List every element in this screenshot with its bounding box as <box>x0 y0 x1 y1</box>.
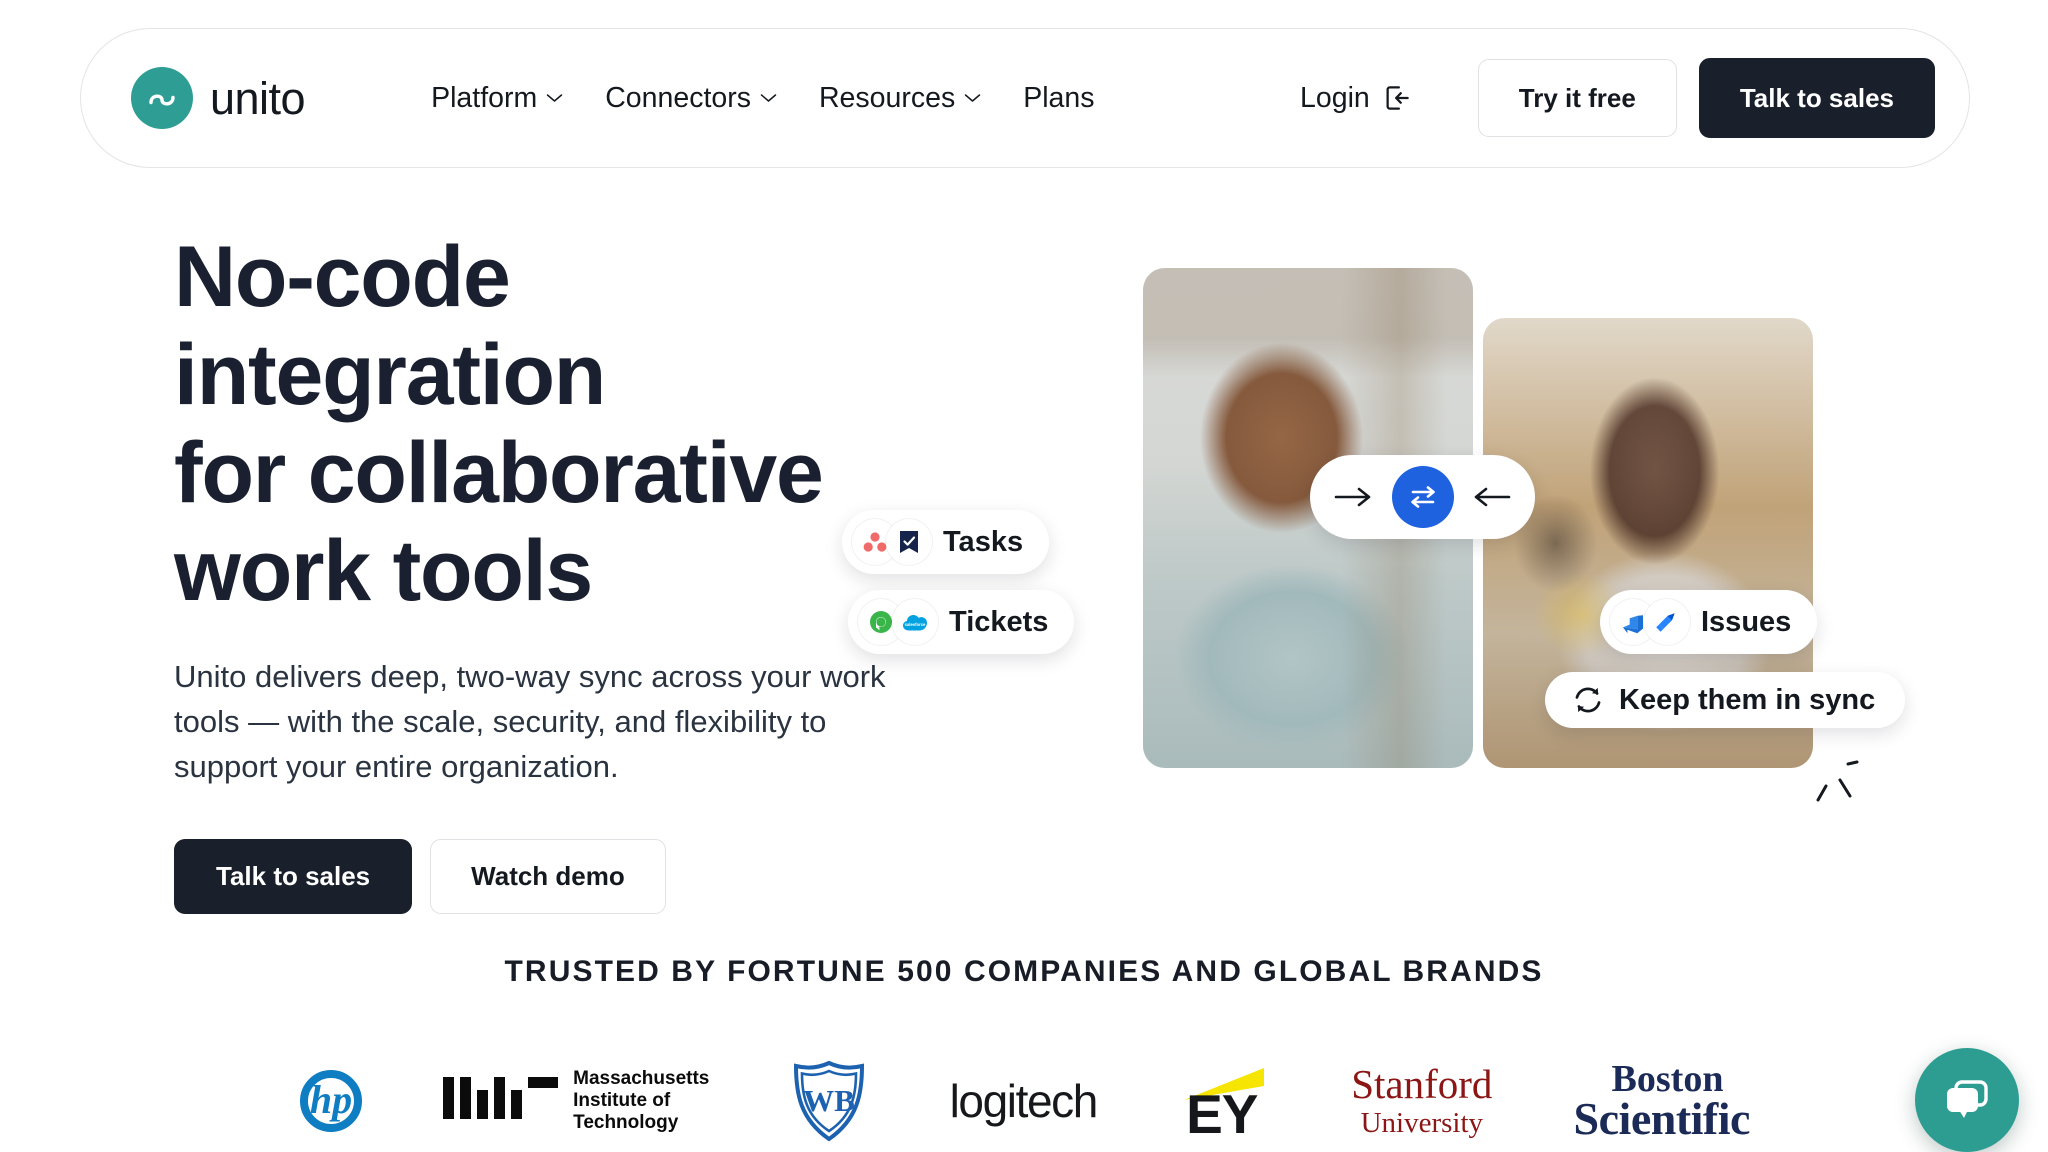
login-link[interactable]: Login <box>1300 82 1412 115</box>
landing-page: unito Platform Connectors Resources <box>0 0 2048 1152</box>
boston-scientific-line-1: Boston <box>1612 1061 1750 1097</box>
nav-label-resources: Resources <box>819 82 955 115</box>
nav-label-connectors: Connectors <box>605 82 751 115</box>
chevron-down-icon <box>546 93 563 103</box>
site-header: unito Platform Connectors Resources <box>80 28 1970 168</box>
chip-tasks-label: Tasks <box>943 526 1023 559</box>
microsoft-todo-icon <box>886 519 932 565</box>
mit-bars-icon <box>443 1077 558 1125</box>
trusted-heading: TRUSTED BY FORTUNE 500 COMPANIES AND GLO… <box>0 955 2048 989</box>
chevron-down-icon <box>964 93 981 103</box>
warner-bros-shield-icon: WB <box>790 1059 868 1143</box>
stanford-line-1: Stanford <box>1351 1062 1492 1106</box>
ey-wordmark: EY <box>1186 1087 1257 1142</box>
logo-boston-scientific: Boston Scientific <box>1574 1051 1750 1151</box>
wb-letters: WB <box>804 1083 856 1118</box>
chip-tasks: Tasks <box>842 510 1049 574</box>
talk-to-sales-button-header[interactable]: Talk to sales <box>1699 58 1935 138</box>
nav-item-connectors[interactable]: Connectors <box>605 82 777 115</box>
two-way-sync-icon <box>1392 466 1454 528</box>
boston-scientific-line-2: Scientific <box>1574 1097 1750 1141</box>
unito-wave-logo-icon <box>131 67 193 129</box>
hero-text-block: No-code integration for collaborative wo… <box>174 228 934 914</box>
header-actions: Login Try it free Talk to sales <box>1300 58 1935 138</box>
chip-tasks-icons <box>852 519 932 565</box>
chip-tickets-icons: salesforce <box>858 599 938 645</box>
logo-hp: hp <box>300 1051 362 1151</box>
svg-text:salesforce: salesforce <box>905 622 926 627</box>
chip-tickets-label: Tickets <box>949 606 1048 639</box>
hero-subtitle: Unito delivers deep, two-way sync across… <box>174 654 904 789</box>
chevron-down-icon <box>760 93 777 103</box>
stanford-line-2: University <box>1351 1106 1492 1140</box>
two-way-sync-pill <box>1310 455 1535 539</box>
sync-refresh-icon <box>1571 683 1605 717</box>
arrow-left-icon <box>1469 484 1513 510</box>
logitech-wordmark: logitech <box>950 1074 1097 1128</box>
logo-strip: hp Massachusetts Institute of Technology <box>300 1048 1750 1152</box>
try-it-free-button[interactable]: Try it free <box>1478 59 1677 137</box>
hero-title: No-code integration for collaborative wo… <box>174 228 934 620</box>
logo-stanford: Stanford University <box>1351 1051 1492 1151</box>
chat-widget-button[interactable] <box>1915 1048 2019 1152</box>
nav-item-plans[interactable]: Plans <box>1023 82 1094 115</box>
chip-issues: Issues <box>1600 590 1817 654</box>
hp-icon: hp <box>300 1070 362 1132</box>
nav-label-platform: Platform <box>431 82 537 115</box>
logo-mit: Massachusetts Institute of Technology <box>443 1051 709 1151</box>
mit-wordmark: Massachusetts Institute of Technology <box>573 1068 709 1134</box>
chip-issues-label: Issues <box>1701 606 1791 639</box>
mit-line-3: Technology <box>573 1112 709 1134</box>
hero-title-line-3: work tools <box>174 522 934 620</box>
chip-keep-in-sync: Keep them in sync <box>1545 672 1905 728</box>
chip-issues-icons <box>1610 599 1690 645</box>
hero-cta-group: Talk to sales Watch demo <box>174 839 934 914</box>
login-label: Login <box>1300 82 1370 115</box>
mit-line-2: Institute of <box>573 1090 709 1112</box>
nav-item-resources[interactable]: Resources <box>819 82 981 115</box>
logo-warner-bros: WB <box>790 1051 868 1151</box>
sparkle-lines-icon <box>1810 758 1870 808</box>
mit-line-1: Massachusetts <box>573 1068 709 1090</box>
chip-tickets: salesforce Tickets <box>848 590 1074 654</box>
hero-illustration: Tasks salesforce <box>1120 260 1920 800</box>
nav-item-platform[interactable]: Platform <box>431 82 563 115</box>
hp-label: hp <box>310 1080 352 1120</box>
arrow-right-icon <box>1332 484 1376 510</box>
talk-to-sales-button-hero[interactable]: Talk to sales <box>174 839 412 914</box>
primary-nav: Platform Connectors Resources Plans <box>431 82 1094 115</box>
salesforce-icon: salesforce <box>892 599 938 645</box>
jira-icon <box>1644 599 1690 645</box>
hero-title-line-2: for collaborative <box>174 424 934 522</box>
chat-bubbles-icon <box>1939 1074 1995 1126</box>
stanford-wordmark: Stanford University <box>1351 1062 1492 1140</box>
chip-keep-in-sync-label: Keep them in sync <box>1619 684 1875 717</box>
logo-ey: EY <box>1178 1051 1270 1151</box>
login-enter-icon <box>1382 83 1412 113</box>
hero-title-line-1: No-code integration <box>174 228 934 424</box>
logo-logitech: logitech <box>950 1051 1097 1151</box>
boston-scientific-wordmark: Boston Scientific <box>1574 1061 1750 1141</box>
brand-name: unito <box>210 76 305 121</box>
nav-label-plans: Plans <box>1023 82 1094 115</box>
watch-demo-button[interactable]: Watch demo <box>430 839 666 914</box>
brand-logo[interactable]: unito <box>131 67 305 129</box>
